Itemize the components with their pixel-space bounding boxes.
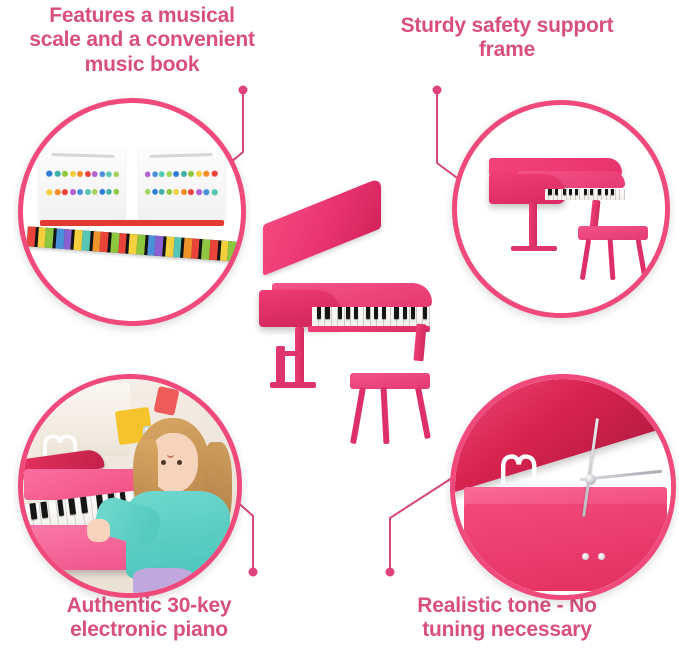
note-dot: [195, 189, 201, 195]
piano-foot-bar: [511, 246, 557, 251]
infographic-stage: Features a musical scale and a convenien…: [0, 0, 679, 655]
rod-pivot-knob: [585, 474, 596, 485]
note-dot: [173, 189, 179, 195]
note-dot: [85, 189, 91, 195]
note-dot: [145, 188, 151, 194]
note-dot: [152, 171, 158, 177]
bubble-lid-detail[interactable]: [450, 374, 676, 600]
note-dot: [188, 189, 194, 195]
note-dot: [114, 188, 120, 194]
note-dot: [78, 189, 84, 195]
note-dot: [107, 188, 113, 194]
piano-bench: [350, 373, 430, 444]
note-dot: [203, 170, 209, 176]
piano-lid: [263, 178, 381, 277]
eye: [161, 460, 166, 465]
piano-lid-open: [450, 374, 673, 496]
toy-shape: [153, 386, 179, 416]
musical-scale-strip: [27, 226, 237, 261]
note-dot: [195, 171, 201, 177]
note-dot: [180, 189, 186, 195]
note-dot: [100, 171, 106, 177]
note-dot: [62, 171, 68, 177]
piano-cross-brace: [280, 351, 303, 356]
piano-cross-brace: [529, 221, 537, 224]
connector-dot-top-right: [433, 86, 442, 95]
bubble-music-book[interactable]: [18, 98, 246, 326]
note-dot: [62, 189, 68, 195]
piano-black-keys: [314, 307, 428, 319]
note-dot: [70, 189, 76, 195]
note-dot: [211, 189, 217, 195]
music-rack-icon: [557, 132, 597, 155]
note-dot: [70, 171, 76, 177]
piano-key-rail: [308, 326, 430, 333]
open-music-book: [40, 147, 223, 221]
note-dot: [55, 170, 61, 176]
caption-realistic-tone: Realistic tone - No tuning necessary: [372, 594, 642, 643]
note-dot: [85, 171, 91, 177]
note-dot: [47, 189, 53, 195]
note-dot: [159, 188, 165, 194]
bench-seat: [350, 373, 430, 389]
center-product-image: [255, 222, 445, 458]
piano-case: [464, 504, 667, 590]
note-dot: [145, 171, 151, 177]
note-dot: [166, 189, 172, 195]
connector-dot-top-left: [239, 86, 248, 95]
note-dot: [166, 171, 172, 177]
note-dot: [92, 189, 98, 195]
note-dot: [211, 170, 217, 176]
note-dot-row: [145, 188, 218, 196]
piano-black-keys: [546, 189, 623, 195]
mouth: [167, 452, 173, 458]
page-heading-line: [52, 152, 114, 157]
note-dot: [114, 171, 120, 177]
note-dot: [92, 171, 98, 177]
eye: [177, 460, 182, 465]
child-figure: [124, 418, 237, 593]
bubble-support-frame[interactable]: [452, 100, 670, 318]
book-page-right: [138, 145, 225, 223]
note-dot: [152, 188, 158, 194]
music-book-scene: [23, 103, 241, 321]
note-dot: [159, 171, 165, 177]
note-dot-row: [47, 170, 120, 178]
hand: [87, 519, 110, 542]
caption-electronic-piano: Authentic 30-key electronic piano: [14, 594, 284, 643]
note-dot: [78, 171, 84, 177]
note-dot: [180, 171, 186, 177]
bench-leg: [607, 238, 615, 279]
note-dot: [188, 171, 194, 177]
book-spine-edge: [40, 220, 223, 226]
connector-dot-bottom-left: [249, 568, 258, 577]
bench-seat: [578, 226, 649, 240]
toy-piano-main: [255, 222, 445, 392]
note-dot: [203, 189, 209, 195]
child-playing-scene: [23, 379, 237, 593]
scale-colour-key: [228, 241, 237, 261]
piano-foot-bar: [270, 382, 316, 389]
lid-detail-scene: [455, 379, 671, 595]
lap: [133, 568, 194, 596]
note-dot: [100, 188, 106, 194]
note-dot-row: [47, 188, 120, 196]
caption-music-book: Features a musical scale and a convenien…: [8, 4, 276, 77]
piano-support-leg: [295, 327, 305, 388]
bench-leg: [350, 387, 365, 444]
connector-dot-bottom-right: [386, 568, 395, 577]
note-dot-row: [145, 170, 218, 178]
bench-leg: [415, 387, 430, 439]
note-dot: [107, 171, 113, 177]
note-dot: [55, 189, 61, 195]
bench-leg: [380, 387, 389, 444]
bench-leg: [580, 238, 591, 279]
piano-support-leg: [529, 202, 537, 249]
piano-bench: [578, 226, 649, 280]
book-page-left: [39, 145, 126, 223]
caption-support-frame: Sturdy safety support frame: [372, 14, 642, 63]
note-dot: [173, 171, 179, 177]
bubble-child-playing[interactable]: [18, 374, 242, 598]
note-dot: [47, 170, 53, 176]
support-frame-scene: [457, 105, 665, 313]
page-heading-line: [149, 152, 211, 157]
bench-leg: [636, 238, 648, 277]
